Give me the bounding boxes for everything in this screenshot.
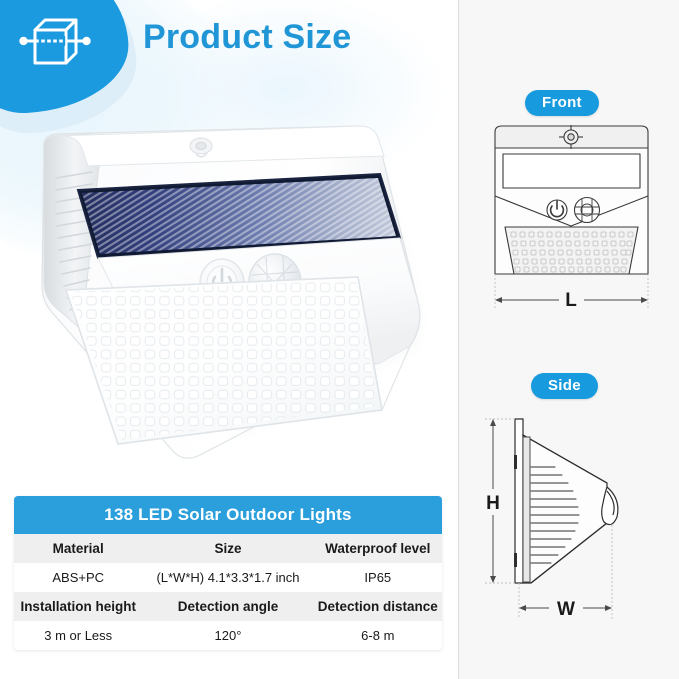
- table-cell: Material: [14, 534, 142, 563]
- table-row: Installation height Detection angle Dete…: [14, 592, 442, 621]
- side-view-badge: Side: [531, 373, 598, 399]
- spec-table-title-row: 138 LED Solar Outdoor Lights: [14, 496, 442, 534]
- table-row: 3 m or Less 120° 6-8 m: [14, 621, 442, 650]
- power-button-icon: [547, 200, 567, 220]
- header: Product Size: [0, 0, 458, 110]
- table-cell: Detection angle: [142, 592, 313, 621]
- table-row: ABS+PC (L*W*H) 4.1*3.3*1.7 inch IP65: [14, 563, 442, 592]
- measure-box-icon: [18, 12, 92, 80]
- left-panel: Product Size: [0, 0, 458, 679]
- table-cell: Installation height: [14, 592, 142, 621]
- table-cell: (L*W*H) 4.1*3.3*1.7 inch: [142, 563, 313, 592]
- inner-slab: [523, 437, 530, 582]
- pir-sensor-icon: [575, 198, 600, 223]
- table-cell: Size: [142, 534, 313, 563]
- led-housing: [523, 435, 607, 583]
- table-cell: Detection distance: [314, 592, 442, 621]
- right-panel: Front: [459, 0, 679, 679]
- table-row: Material Size Waterproof level: [14, 534, 442, 563]
- spec-table-title: 138 LED Solar Outdoor Lights: [14, 496, 442, 534]
- page-title: Product Size: [143, 18, 351, 57]
- led-array: [64, 275, 394, 450]
- table-cell: 120°: [142, 621, 313, 650]
- table-cell: Waterproof level: [314, 534, 442, 563]
- dimension-label-L: L: [565, 290, 577, 311]
- table-cell: 6-8 m: [314, 621, 442, 650]
- dimension-label-H: H: [486, 493, 500, 514]
- dimension-label-W: W: [557, 599, 575, 620]
- spec-table: 138 LED Solar Outdoor Lights Material Si…: [14, 496, 442, 650]
- side-view-diagram: H W: [471, 405, 671, 635]
- table-cell: 3 m or Less: [14, 621, 142, 650]
- front-view-diagram: L: [471, 122, 671, 322]
- product-image: [26, 120, 446, 470]
- infographic-root: Product Size: [0, 0, 679, 679]
- table-cell: IP65: [314, 563, 442, 592]
- front-view-badge: Front: [525, 90, 599, 116]
- table-cell: ABS+PC: [14, 563, 142, 592]
